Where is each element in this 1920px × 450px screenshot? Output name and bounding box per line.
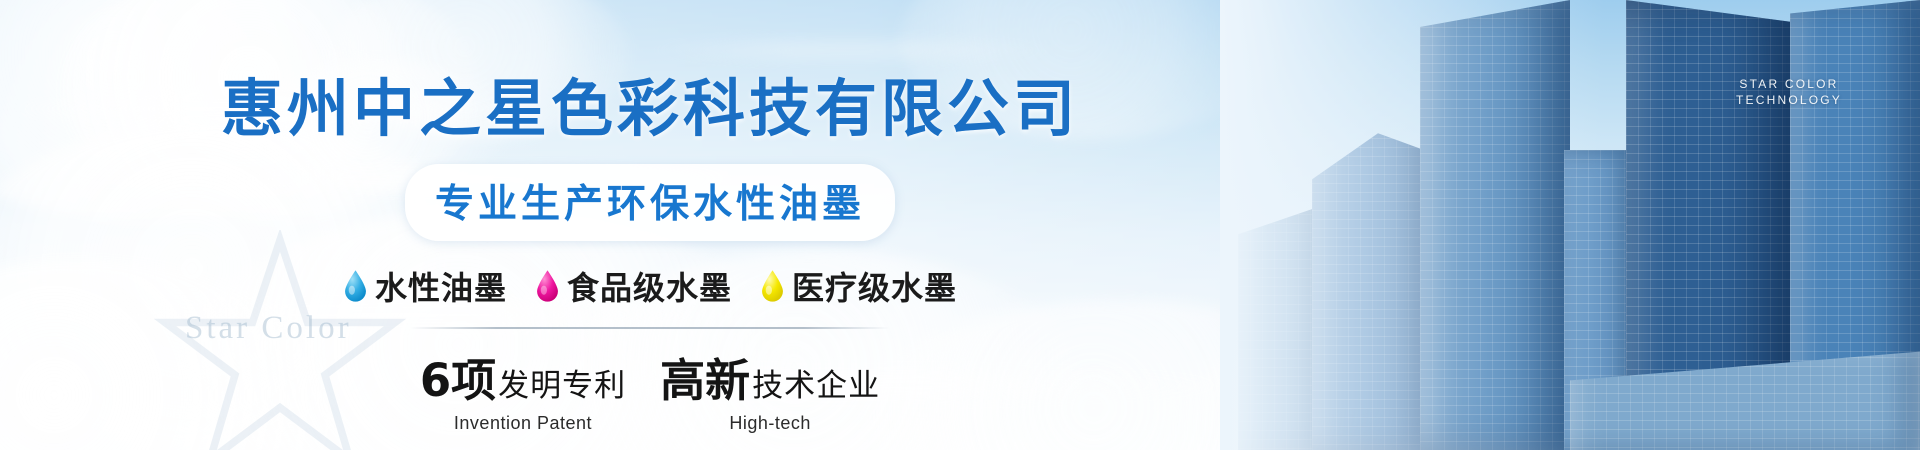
feature-label: 食品级水墨 (567, 263, 732, 309)
brand-caption: STAR COLOR TECHNOLOGY (1736, 76, 1842, 108)
skyscraper-photo (1220, 0, 1920, 450)
feature-item: 水性油墨 (343, 263, 507, 309)
badge-rest: 技术企业 (752, 360, 880, 405)
badge-rest: 发明专利 (498, 360, 626, 405)
brand-caption-line1: STAR COLOR (1736, 76, 1842, 92)
badge-highlight: 高新 (660, 344, 750, 409)
feature-list: 水性油墨 食品级水墨 (343, 263, 957, 309)
badge-high-tech: 高新 技术企业 High-tech (660, 344, 880, 434)
feature-item: 医疗级水墨 (760, 263, 957, 309)
subtitle-text: 专业生产环保水性油墨 (435, 182, 865, 227)
building-mid-left (1312, 120, 1432, 450)
brand-caption-line2: TECHNOLOGY (1736, 92, 1842, 108)
company-title: 惠州中之星色彩科技有限公司 (221, 58, 1079, 148)
feature-item: 食品级水墨 (535, 263, 732, 309)
banner-content: 惠州中之星色彩科技有限公司 专业生产环保水性油墨 水性油墨 (0, 0, 1300, 450)
badge-chinese-text: 6项 发明专利 (420, 344, 626, 409)
promotional-banner: Star Color STAR COLOR TECHNOLOGY 惠州中之星色彩… (0, 0, 1920, 450)
water-drop-icon (343, 269, 368, 303)
water-drop-icon (535, 269, 560, 303)
badge-english-text: High-tech (729, 413, 811, 434)
achievement-badges: 6项 发明专利 Invention Patent 高新 技术企业 High-te… (420, 344, 880, 434)
subtitle-pill: 专业生产环保水性油墨 (405, 164, 895, 241)
section-divider (410, 327, 890, 329)
badge-invention-patent: 6项 发明专利 Invention Patent (420, 344, 626, 434)
feature-label: 水性油墨 (375, 263, 507, 309)
building-center-tall (1420, 0, 1570, 450)
badge-english-text: Invention Patent (454, 413, 592, 434)
feature-label: 医疗级水墨 (792, 263, 957, 309)
badge-chinese-text: 高新 技术企业 (660, 344, 880, 409)
badge-highlight: 6项 (420, 344, 496, 409)
water-drop-icon (760, 269, 785, 303)
